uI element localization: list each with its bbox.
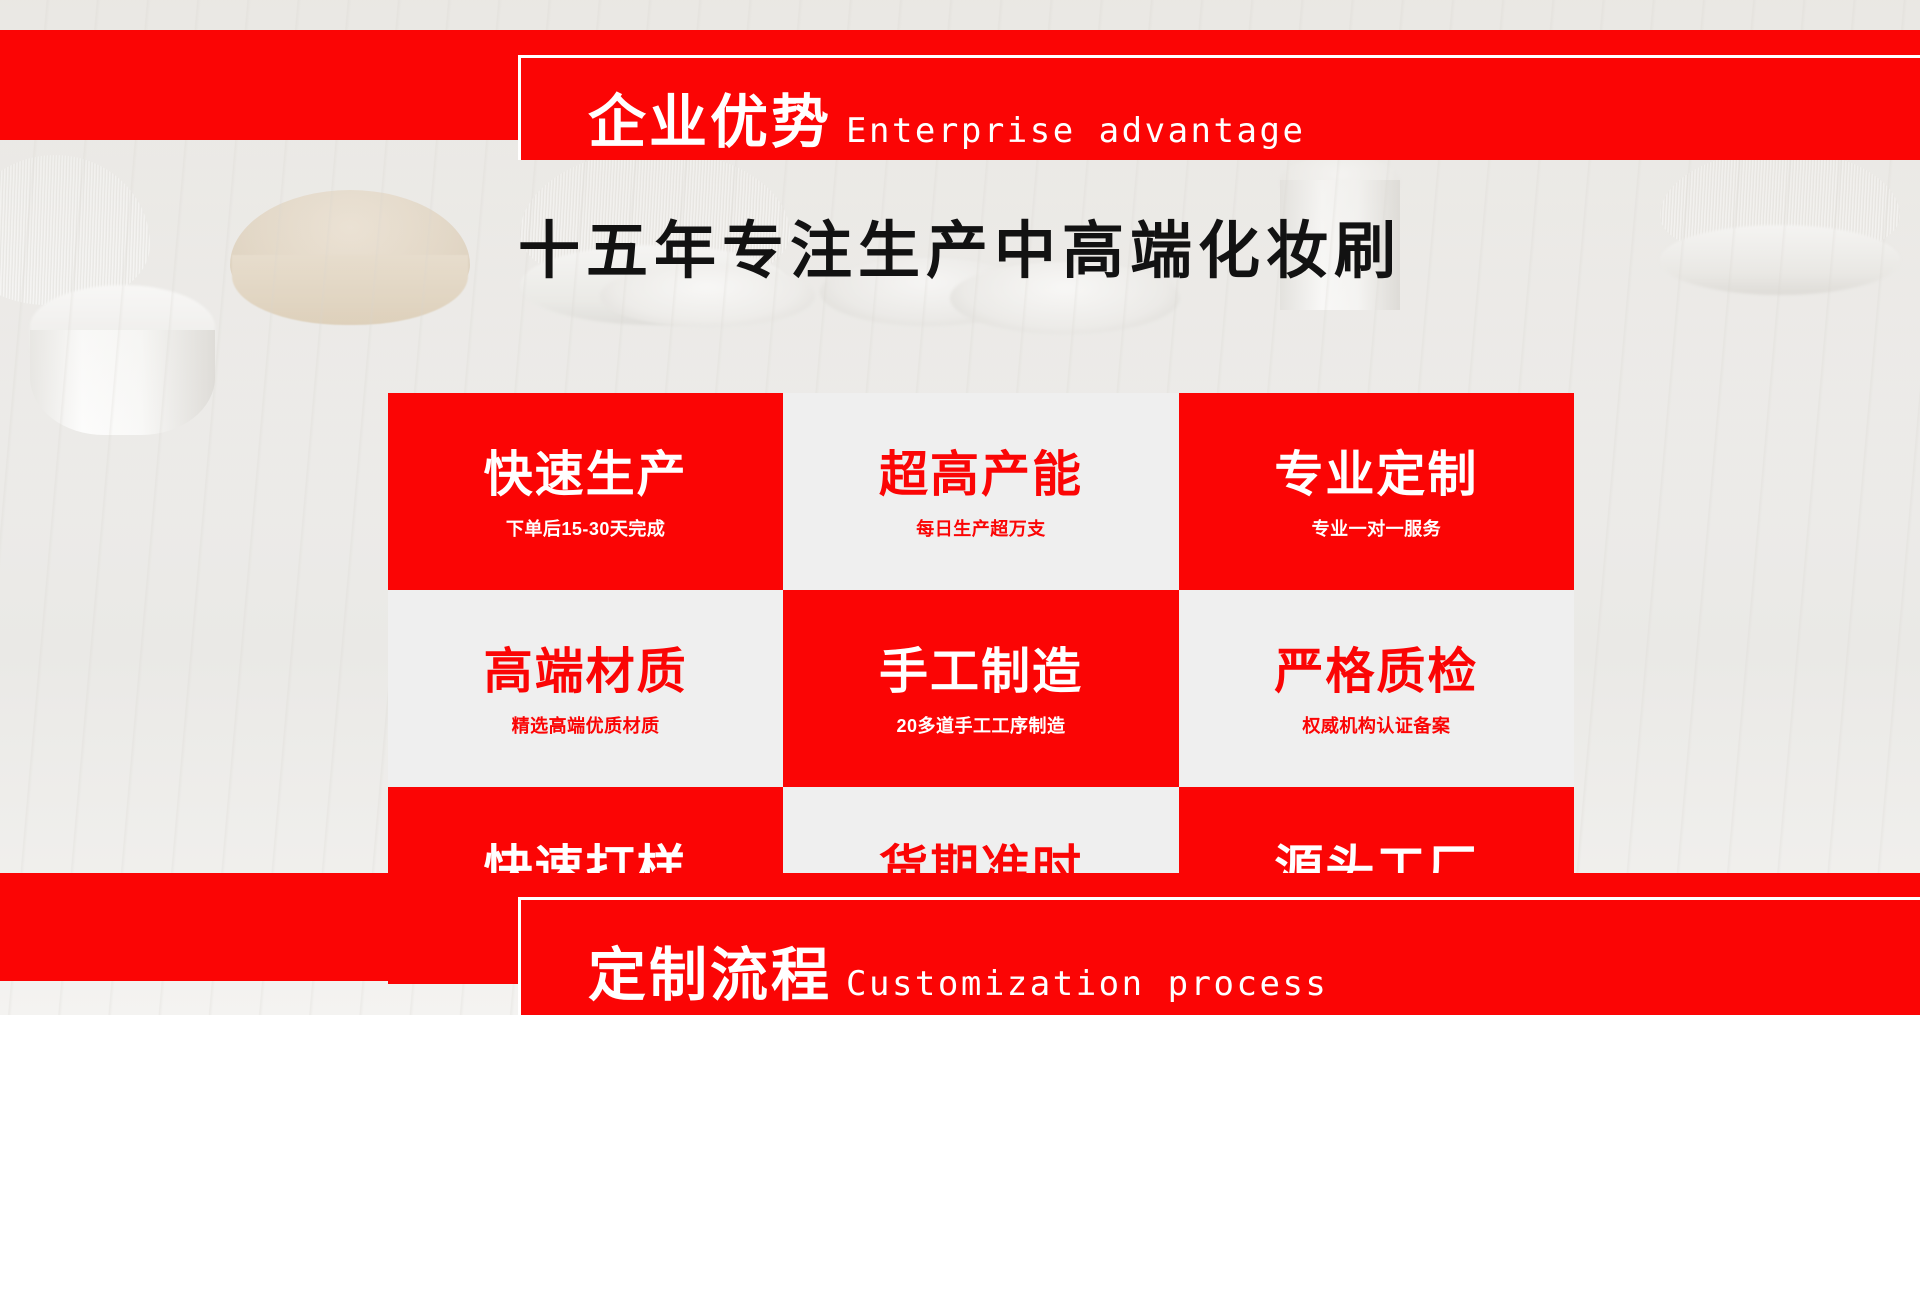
section-title-cn: 企业优势 <box>588 94 832 152</box>
page-headline: 十五年专注生产中高端化妆刷 <box>0 218 1920 286</box>
feature-title-2: 超高产能 <box>879 451 1083 500</box>
feature-cell-5[interactable]: 手工制造 20多道手工工序制造 <box>783 590 1178 787</box>
feature-title-4: 高端材质 <box>484 648 688 697</box>
feature-title-1: 快速生产 <box>484 451 688 500</box>
feature-sub-2: 每日生产超万支 <box>916 520 1046 538</box>
feature-sub-4: 精选高端优质材质 <box>512 717 660 735</box>
feature-cell-4[interactable]: 高端材质 精选高端优质材质 <box>388 590 783 787</box>
feature-sub-3: 专业一对一服务 <box>1312 520 1442 538</box>
feature-sub-6: 权威机构认证备案 <box>1302 717 1450 735</box>
section-title-en: Enterprise advantage <box>846 114 1305 152</box>
feature-cell-6[interactable]: 严格质检 权威机构认证备案 <box>1179 590 1574 787</box>
bottom-white-strip <box>0 1015 1920 1303</box>
brush-barrel-white-lowerleft <box>30 330 215 435</box>
feature-title-6: 严格质检 <box>1274 648 1478 697</box>
feature-cell-3[interactable]: 专业定制 专业一对一服务 <box>1179 393 1574 590</box>
feature-title-5: 手工制造 <box>879 648 1083 697</box>
section-header-enterprise-advantage: 企业优势 Enterprise advantage <box>518 55 1920 160</box>
feature-sub-5: 20多道手工工序制造 <box>896 717 1065 735</box>
feature-sub-1: 下单后15-30天完成 <box>506 520 666 538</box>
footer-title-en: Customization process <box>846 967 1328 1005</box>
feature-cell-1[interactable]: 快速生产 下单后15-30天完成 <box>388 393 783 590</box>
section-header-customization-process: 定制流程 Customization process <box>518 897 1920 1015</box>
feature-title-3: 专业定制 <box>1274 451 1478 500</box>
feature-cell-2[interactable]: 超高产能 每日生产超万支 <box>783 393 1178 590</box>
page-root: 企业优势 Enterprise advantage 十五年专注生产中高端化妆刷 … <box>0 0 1920 1303</box>
footer-title-cn: 定制流程 <box>588 947 832 1005</box>
